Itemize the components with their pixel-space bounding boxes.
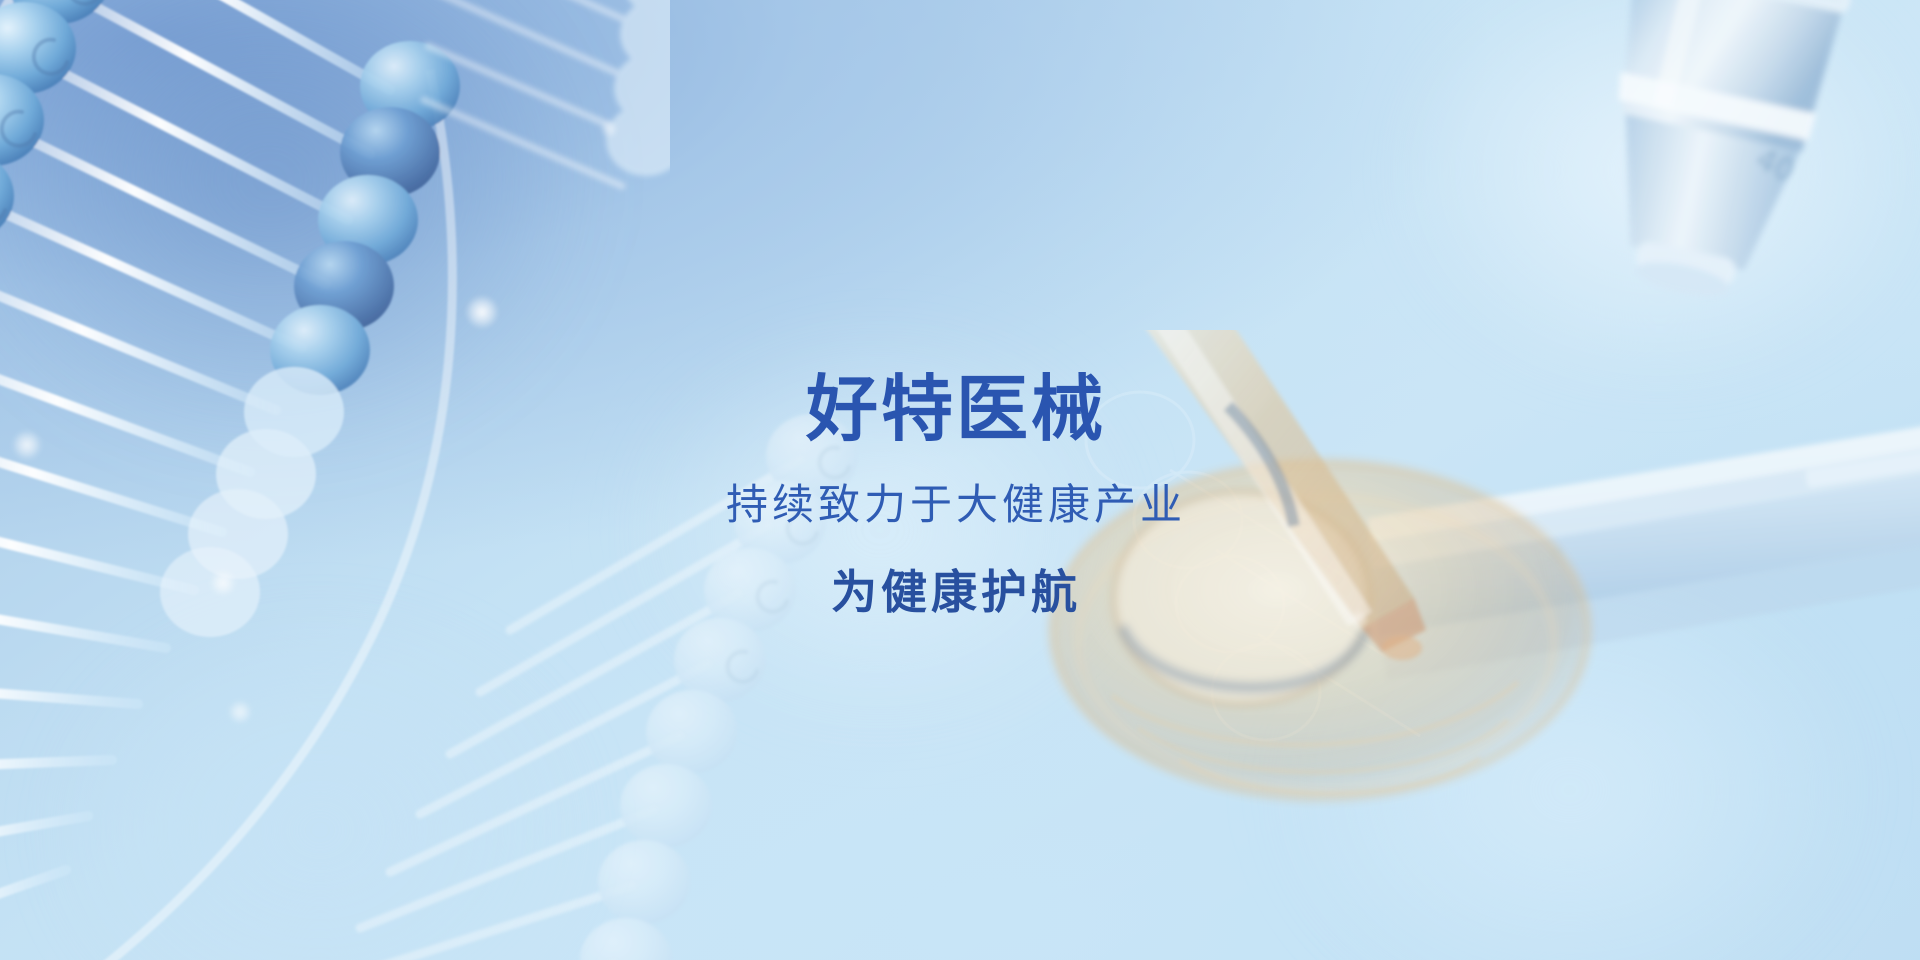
page-title: 好特医械 [806, 371, 1106, 449]
hero-subtitle: 持续致力于大健康产业 [726, 482, 1186, 528]
hero-banner: 40 [0, 0, 1920, 960]
hero-text-block: 好特医械 持续致力于大健康产业 为健康护航 [0, 0, 1920, 960]
hero-slogan: 为健康护航 [831, 567, 1081, 618]
